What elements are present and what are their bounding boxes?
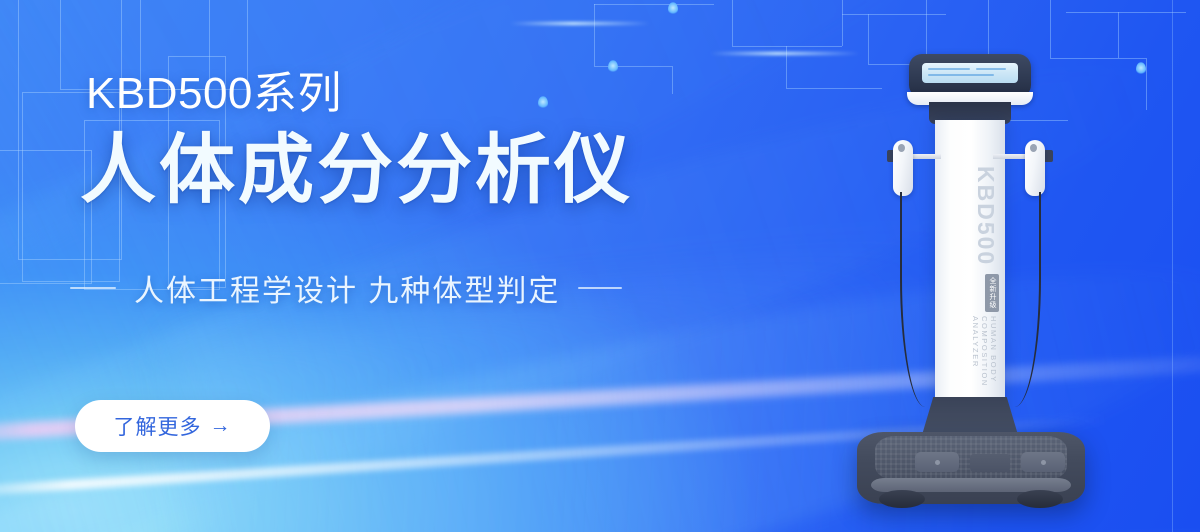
device-screen bbox=[922, 63, 1018, 83]
edge-seam bbox=[1172, 0, 1173, 532]
subtitle-row: 人体工程学设计 九种体型判定 bbox=[70, 266, 670, 310]
device-cable-right bbox=[997, 192, 1041, 407]
circuit-line bbox=[1066, 12, 1186, 13]
circuit-node-icon bbox=[1136, 62, 1146, 75]
divider-dash-left bbox=[70, 287, 116, 289]
foot-electrode-left bbox=[915, 452, 959, 472]
plate-center-pad bbox=[970, 454, 1010, 472]
device-handle-right bbox=[1025, 130, 1047, 196]
learn-more-button[interactable]: 了解更多 → bbox=[75, 400, 270, 452]
base-foot-left bbox=[879, 490, 925, 508]
circuit-line bbox=[1118, 12, 1119, 58]
product-hero-banner: KBD500系列 人体成分分析仪 人体工程学设计 九种体型判定 了解更多 → K… bbox=[0, 0, 1200, 532]
body-composition-analyzer-image: KBD500 全新升级 HUMAN BODY COMPOSITION ANALY… bbox=[845, 42, 1095, 532]
product-series-label: KBD500系列 bbox=[86, 70, 342, 118]
plate-textured-surface bbox=[875, 436, 1067, 480]
device-handle-left bbox=[893, 130, 915, 196]
handle-button-icon bbox=[1030, 144, 1037, 152]
foot-electrode-right bbox=[1021, 452, 1065, 472]
handle-arm bbox=[993, 154, 1029, 159]
circuit-line bbox=[842, 0, 843, 46]
device-cable-left bbox=[900, 192, 942, 407]
arrow-right-icon: → bbox=[210, 414, 232, 438]
electrode-dot-icon bbox=[935, 460, 940, 465]
device-base-plate bbox=[857, 432, 1085, 504]
circuit-line bbox=[732, 0, 733, 46]
learn-more-label: 了解更多 bbox=[114, 411, 202, 441]
electrode-dot-icon bbox=[1041, 460, 1046, 465]
handle-button-icon bbox=[898, 144, 905, 152]
divider-dash-right bbox=[578, 287, 622, 289]
hero-text-block: KBD500系列 人体成分分析仪 人体工程学设计 九种体型判定 了解更多 → bbox=[0, 0, 700, 532]
circuit-line bbox=[786, 46, 787, 88]
device-brand-label: KBD500 bbox=[972, 166, 999, 266]
base-foot-right bbox=[1017, 490, 1063, 508]
device-column: KBD500 全新升级 HUMAN BODY COMPOSITION ANALY… bbox=[935, 120, 1005, 420]
page-title: 人体成分分析仪 bbox=[80, 130, 633, 212]
circuit-line bbox=[842, 14, 946, 15]
circuit-glow bbox=[710, 52, 860, 55]
subtitle-text: 人体工程学设计 九种体型判定 bbox=[134, 266, 560, 310]
circuit-line bbox=[1146, 58, 1147, 110]
circuit-line bbox=[732, 46, 842, 47]
